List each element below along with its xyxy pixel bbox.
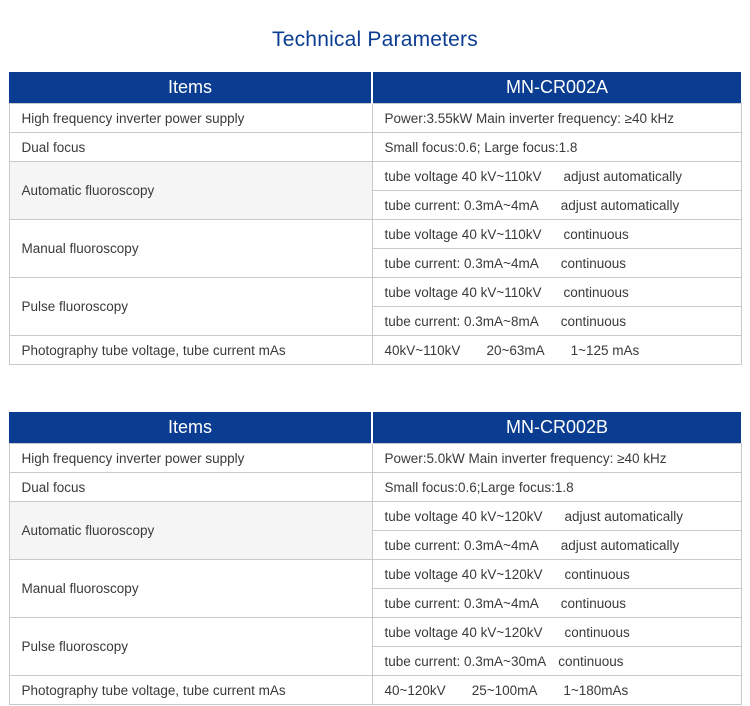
table-row: Pulse fluoroscopy tube voltage 40 kV~120…: [9, 618, 741, 647]
column-header-items: Items: [9, 412, 372, 444]
item-label: Manual fluoroscopy: [9, 220, 372, 278]
value-cell: tube current: 0.3mA~8mAcontinuous: [372, 307, 741, 336]
value-cell: tube current: 0.3mA~30mAcontinuous: [372, 647, 741, 676]
item-label: Manual fluoroscopy: [9, 560, 372, 618]
value-cell: tube voltage 40 kV~120kVcontinuous: [372, 618, 741, 647]
value-cell: Small focus:0.6; Large focus:1.8: [372, 133, 741, 162]
value-primary: tube voltage 40 kV~110kV: [385, 168, 542, 185]
table-row: Dual focus Small focus:0.6; Large focus:…: [9, 133, 741, 162]
table-row: Manual fluoroscopy tube voltage 40 kV~11…: [9, 220, 741, 249]
value-primary: tube current: 0.3mA~4mA: [385, 255, 539, 272]
item-label: Automatic fluoroscopy: [9, 502, 372, 560]
table-row: Automatic fluoroscopy tube voltage 40 kV…: [9, 502, 741, 531]
value-secondary: adjust automatically: [565, 508, 684, 525]
value-cell: tube current: 0.3mA~4mAcontinuous: [372, 249, 741, 278]
table-row: Photography tube voltage, tube current m…: [9, 336, 741, 365]
column-header-model: MN-CR002A: [372, 72, 741, 104]
value-cell: tube current: 0.3mA~4mAadjust automatica…: [372, 531, 741, 560]
value-secondary: adjust automatically: [561, 197, 680, 214]
value-secondary: continuous: [565, 566, 630, 583]
item-label: High frequency inverter power supply: [9, 104, 372, 133]
value-primary: tube voltage 40 kV~120kV: [385, 624, 543, 641]
value-cell: tube current: 0.3mA~4mAcontinuous: [372, 589, 741, 618]
value-primary: tube current: 0.3mA~4mA: [385, 197, 539, 214]
value-primary: tube current: 0.3mA~4mA: [385, 595, 539, 612]
item-label: Pulse fluoroscopy: [9, 618, 372, 676]
value-cell: Power:5.0kW Main inverter frequency: ≥40…: [372, 444, 741, 473]
value-current: 25~100mA: [472, 683, 538, 698]
table-row: Photography tube voltage, tube current m…: [9, 676, 741, 705]
table-header-row: Items MN-CR002B: [9, 412, 741, 444]
value-cell: Small focus:0.6;Large focus:1.8: [372, 473, 741, 502]
table-header-row: Items MN-CR002A: [9, 72, 741, 104]
table-row: Pulse fluoroscopy tube voltage 40 kV~110…: [9, 278, 741, 307]
spec-table-mn-cr002a: Items MN-CR002A High frequency inverter …: [9, 72, 742, 365]
technical-parameters-page: Technical Parameters Items MN-CR002A Hig…: [0, 0, 750, 706]
column-header-model: MN-CR002B: [372, 412, 741, 444]
table-row: Manual fluoroscopy tube voltage 40 kV~12…: [9, 560, 741, 589]
item-label: Photography tube voltage, tube current m…: [9, 676, 372, 705]
item-label: Photography tube voltage, tube current m…: [9, 336, 372, 365]
value-secondary: continuous: [564, 284, 629, 301]
table-row: Dual focus Small focus:0.6;Large focus:1…: [9, 473, 741, 502]
value-cell: tube current: 0.3mA~4mAadjust automatica…: [372, 191, 741, 220]
value-mas: 1~180mAs: [563, 683, 628, 698]
value-secondary: adjust automatically: [564, 168, 683, 185]
value-cell: 40~120kV25~100mA1~180mAs: [372, 676, 741, 705]
item-label: Automatic fluoroscopy: [9, 162, 372, 220]
value-secondary: continuous: [561, 595, 626, 612]
value-secondary: continuous: [561, 313, 626, 330]
value-primary: tube voltage 40 kV~110kV: [385, 226, 542, 243]
value-voltage: 40~120kV: [385, 683, 446, 698]
value-mas: 1~125 mAs: [571, 343, 640, 358]
item-label: Pulse fluoroscopy: [9, 278, 372, 336]
value-current: 20~63mA: [486, 343, 544, 358]
value-voltage: 40kV~110kV: [385, 343, 461, 358]
value-cell: 40kV~110kV20~63mA1~125 mAs: [372, 336, 741, 365]
value-secondary: continuous: [558, 653, 623, 670]
value-primary: tube current: 0.3mA~8mA: [385, 313, 539, 330]
value-cell: tube voltage 40 kV~110kVcontinuous: [372, 220, 741, 249]
value-secondary: continuous: [561, 255, 626, 272]
value-primary: tube current: 0.3mA~4mA: [385, 537, 539, 554]
spec-table-mn-cr002b: Items MN-CR002B High frequency inverter …: [9, 412, 742, 705]
value-secondary: continuous: [565, 624, 630, 641]
value-cell: tube voltage 40 kV~120kVadjust automatic…: [372, 502, 741, 531]
value-secondary: continuous: [564, 226, 629, 243]
value-primary: tube voltage 40 kV~120kV: [385, 508, 543, 525]
item-label: Dual focus: [9, 133, 372, 162]
page-title: Technical Parameters: [0, 0, 750, 55]
value-primary: tube voltage 40 kV~110kV: [385, 284, 542, 301]
value-cell: tube voltage 40 kV~120kVcontinuous: [372, 560, 741, 589]
item-label: Dual focus: [9, 473, 372, 502]
value-cell: Power:3.55kW Main inverter frequency: ≥4…: [372, 104, 741, 133]
item-label: High frequency inverter power supply: [9, 444, 372, 473]
value-primary: tube voltage 40 kV~120kV: [385, 566, 543, 583]
table-row: Automatic fluoroscopy tube voltage 40 kV…: [9, 162, 741, 191]
table-row: High frequency inverter power supply Pow…: [9, 104, 741, 133]
table-row: High frequency inverter power supply Pow…: [9, 444, 741, 473]
column-header-items: Items: [9, 72, 372, 104]
value-cell: tube voltage 40 kV~110kVcontinuous: [372, 278, 741, 307]
value-cell: tube voltage 40 kV~110kVadjust automatic…: [372, 162, 741, 191]
value-secondary: adjust automatically: [561, 537, 680, 554]
value-primary: tube current: 0.3mA~30mA: [385, 653, 547, 670]
